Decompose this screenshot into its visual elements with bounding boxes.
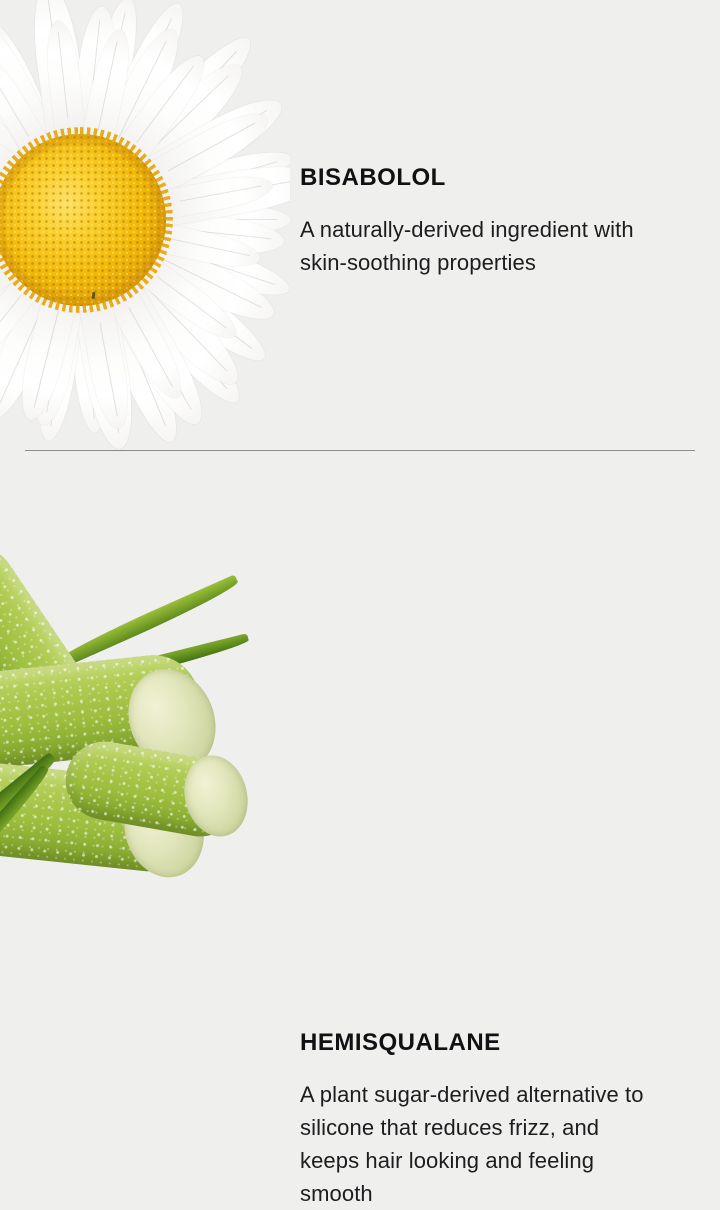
ingredient-copy-hemisqualane: HEMISQUALANE A plant sugar-derived alter… bbox=[300, 1030, 680, 1210]
daisy-disc-rim bbox=[0, 134, 166, 306]
ingredient-description-bisabolol: A naturally-derived ingredient with skin… bbox=[300, 213, 670, 279]
sugarcane-illustration bbox=[0, 450, 290, 900]
ingredient-section-bisabolol: White daisy flower with a yellow center … bbox=[0, 0, 720, 450]
ingredient-title-bisabolol: BISABOLOL bbox=[300, 165, 680, 191]
ingredient-copy-bisabolol: BISABOLOL A naturally-derived ingredient… bbox=[300, 165, 680, 279]
ingredient-title-hemisqualane: HEMISQUALANE bbox=[300, 1030, 680, 1056]
sugarcane-stalks-photo: Cut green sugarcane stalks with dew and … bbox=[0, 450, 290, 900]
ingredient-list-page: White daisy flower with a yellow center … bbox=[0, 0, 720, 900]
daisy-illustration bbox=[0, 40, 290, 400]
ingredient-description-hemisqualane: A plant sugar-derived alternative to sil… bbox=[300, 1078, 660, 1210]
daisy-center-disc bbox=[0, 134, 166, 306]
ingredient-section-hemisqualane: Cut green sugarcane stalks with dew and … bbox=[0, 450, 720, 900]
daisy-flower-alt-text: White daisy flower with a yellow center bbox=[0, 0, 1, 1]
daisy-flower-photo: White daisy flower with a yellow center bbox=[0, 0, 290, 450]
